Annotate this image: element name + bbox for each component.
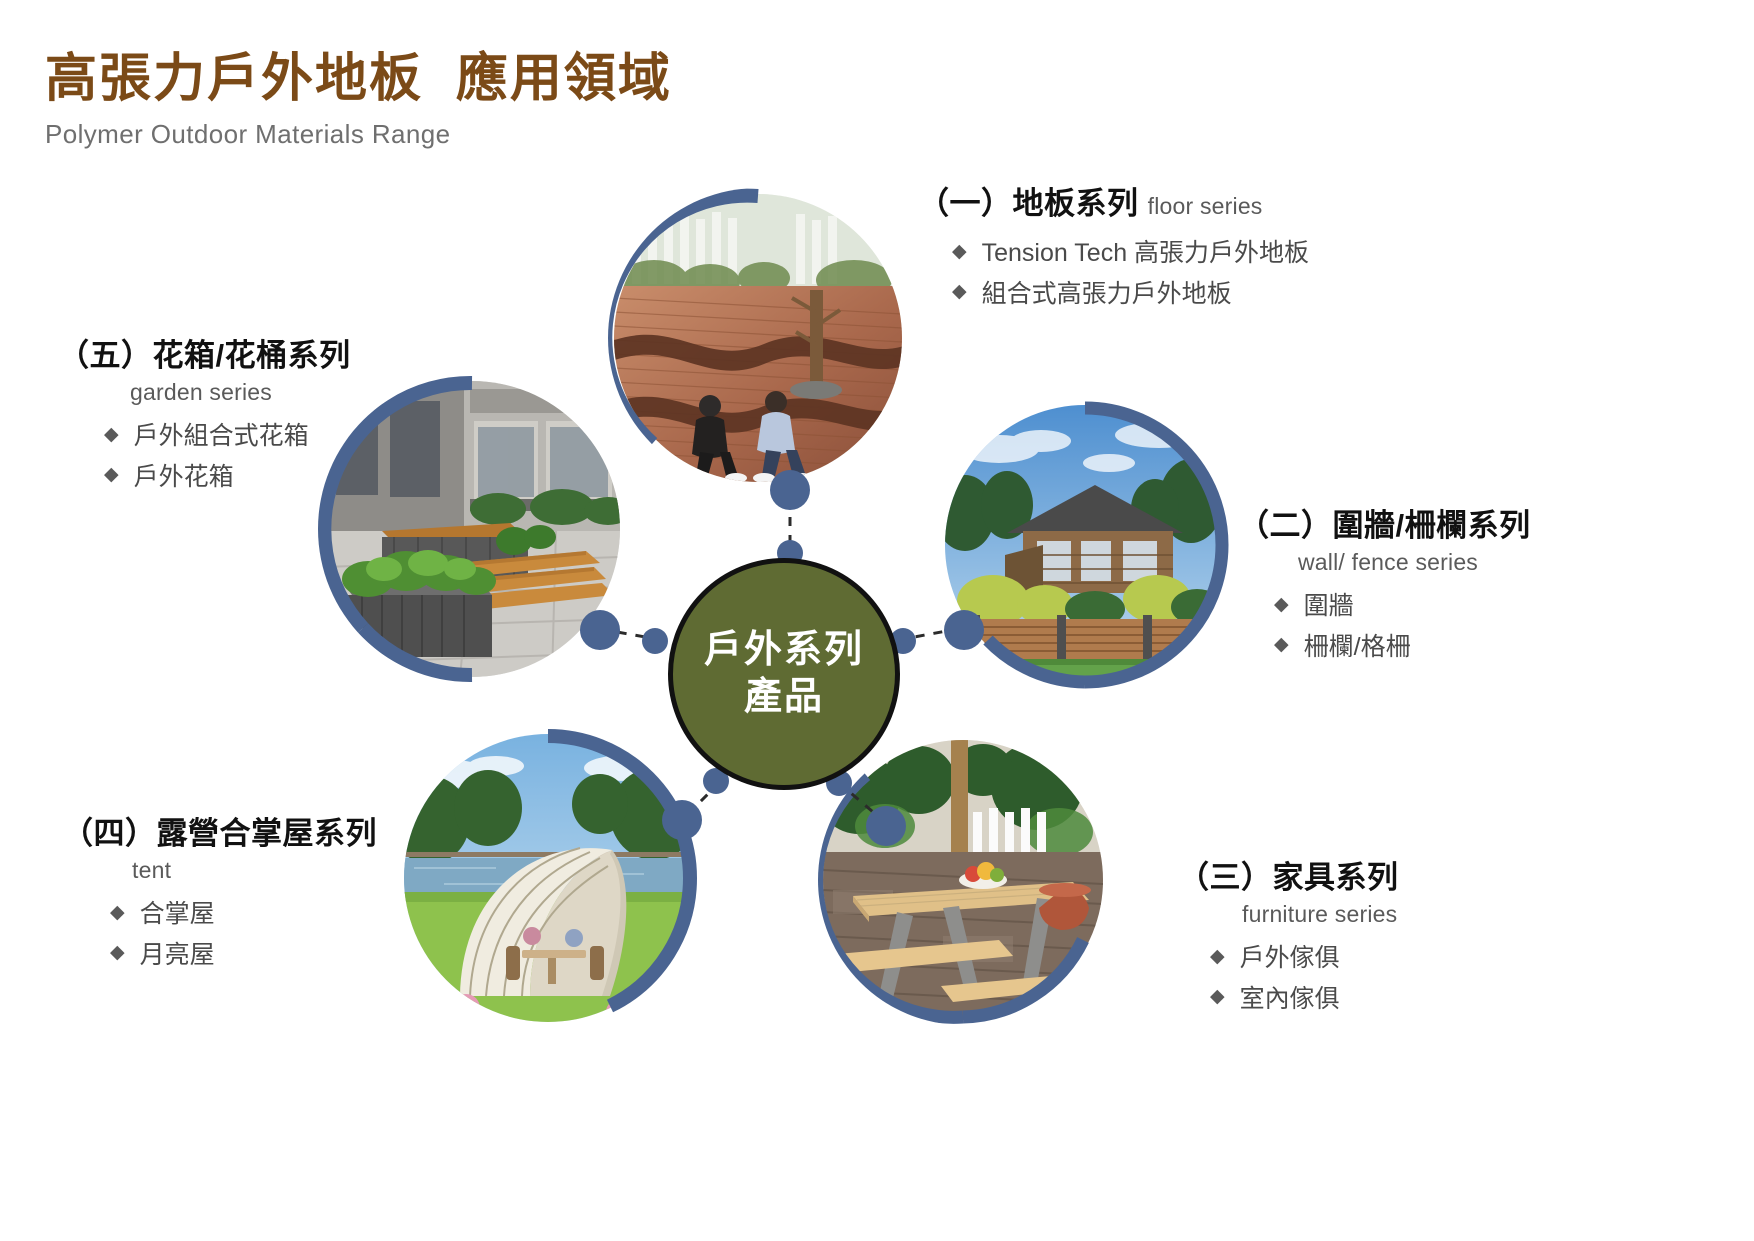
hub-line-1: 戶外系列 — [704, 627, 864, 675]
center-hub[interactable]: 戶外系列 產品 — [668, 558, 900, 790]
connector-dot-tent-outer — [662, 800, 702, 840]
infographic-canvas: 高張力戶外地板 應用領域 Polymer Outdoor Materials R… — [0, 0, 1754, 1241]
connector-dot-garden-inner — [642, 628, 668, 654]
connector-dot-wall-outer — [944, 610, 984, 650]
connector-dot-garden-outer — [580, 610, 620, 650]
hub-line-2: 產品 — [744, 674, 824, 722]
connector-dot-furniture-outer — [866, 806, 906, 846]
connector-dot-floor-outer — [770, 470, 810, 510]
